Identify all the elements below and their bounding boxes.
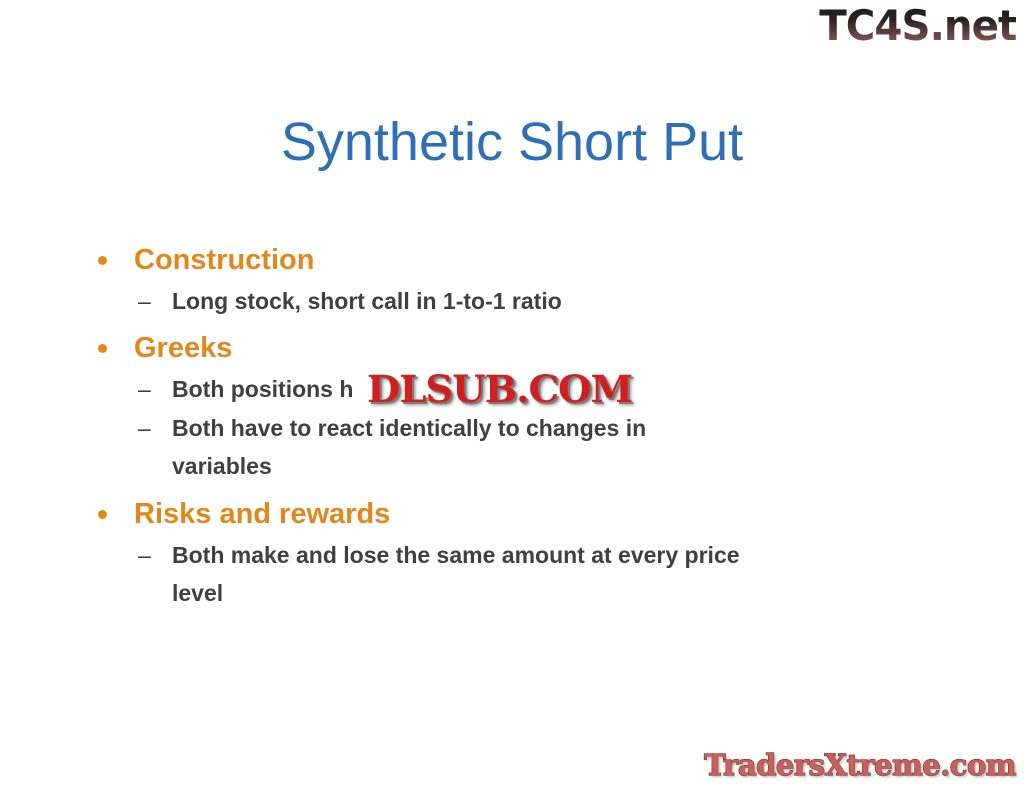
- bullet-dot-icon: [98, 256, 107, 265]
- bullet-dot-icon: [98, 344, 107, 353]
- bullet-list: Construction – Long stock, short call in…: [92, 240, 904, 613]
- bullet-level1-label: Construction: [134, 244, 314, 276]
- bullet-level2-make-and-lose: – Both make and lose the same amount at …: [92, 536, 904, 612]
- bullet-level2-react-identically: – Both have to react identically to chan…: [92, 409, 904, 485]
- group-spacer: [92, 321, 904, 328]
- en-dash-icon: –: [138, 409, 151, 447]
- page-title: Synthetic Short Put: [0, 109, 1024, 175]
- en-dash-icon: –: [138, 282, 151, 320]
- bullet-level1-greeks: Greeks: [92, 328, 904, 368]
- bullet-level1-construction: Construction: [92, 240, 904, 280]
- en-dash-icon: –: [138, 370, 151, 408]
- bullet-level2-positions-greeks: – Both positions h: [92, 370, 904, 408]
- tradersxtreme-watermark: TradersXtreme.com: [704, 747, 1016, 783]
- group-spacer: [92, 486, 904, 494]
- slide-canvas: TC4S.net Synthetic Short Put Constructio…: [0, 0, 1024, 791]
- bullet-level1-label: Greeks: [134, 332, 232, 364]
- bullet-level1-label: Risks and rewards: [134, 498, 390, 530]
- tc4s-logo: TC4S.net: [819, 2, 1016, 50]
- bullet-level2-label: Both make and lose the same amount at ev…: [172, 536, 752, 612]
- bullet-level2-label: Both have to react identically to change…: [172, 409, 752, 485]
- bullet-level2-label: Both positions h: [172, 370, 752, 408]
- bullet-dot-icon: [98, 510, 107, 519]
- en-dash-icon: –: [138, 536, 151, 574]
- bullet-level1-risks-and-rewards: Risks and rewards: [92, 494, 904, 534]
- bullet-level2-long-stock: – Long stock, short call in 1-to-1 ratio: [92, 282, 904, 320]
- bullet-level2-label: Long stock, short call in 1-to-1 ratio: [172, 282, 752, 320]
